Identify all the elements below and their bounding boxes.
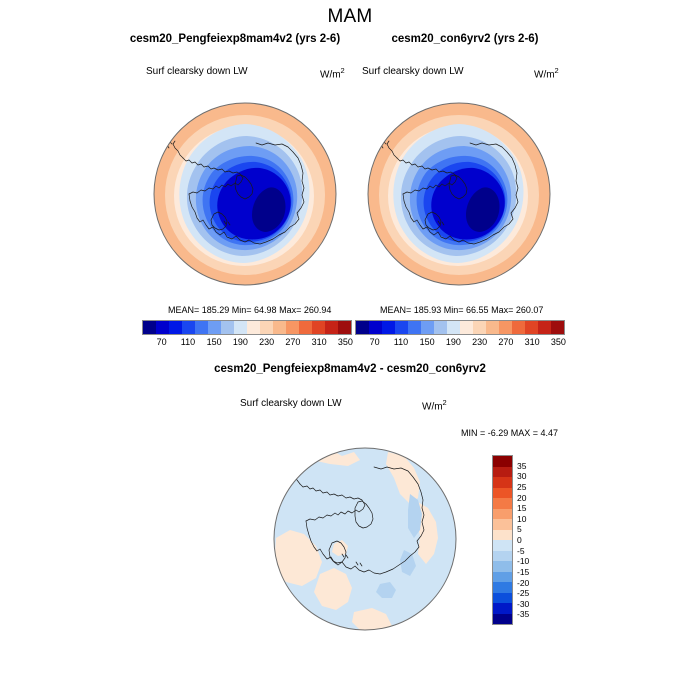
- colorbar-right-ticks: 70110150190230270310350: [355, 337, 565, 351]
- contour-fill-right: [368, 103, 550, 285]
- unit-label-difference: W/m2: [422, 398, 447, 412]
- colorbar-tick-310: 310: [312, 337, 327, 347]
- colorbar-cell-1: [369, 321, 382, 334]
- colorbar-cell-15: [338, 321, 351, 334]
- polar-map-difference-svg: [268, 442, 462, 636]
- colorbar-cell-7: [234, 321, 247, 334]
- colorbar-cell-11: [286, 321, 299, 334]
- colorbar-cell-3: [182, 321, 195, 334]
- contour-fill-difference: [274, 448, 456, 634]
- field-label-difference: Surf clearsky down LW: [240, 398, 342, 409]
- colorbar-diff-cell-0: [493, 456, 512, 467]
- colorbar-cell-3: [395, 321, 408, 334]
- colorbar-diff-tick-neg20: -20: [517, 578, 529, 588]
- colorbar-tick-350: 350: [551, 337, 566, 347]
- unit-label-right: W/m2: [534, 66, 559, 80]
- page-title: MAM: [0, 6, 700, 28]
- unit-exponent: 2: [341, 66, 345, 75]
- panel-title-right: cesm20_con6yrv2 (yrs 2-6): [330, 33, 600, 45]
- colorbar-cell-1: [156, 321, 169, 334]
- colorbar-diff-tick-neg15: -15: [517, 567, 529, 577]
- colorbar-cell-14: [538, 321, 551, 334]
- colorbar-cell-4: [408, 321, 421, 334]
- colorbar-left-ticks: 70110150190230270310350: [142, 337, 352, 351]
- stats-difference: MIN = -6.29 MAX = 4.47: [461, 428, 558, 438]
- colorbar-diff-tick-10: 10: [517, 514, 526, 524]
- colorbar-left: 70110150190230270310350: [142, 320, 352, 335]
- colorbar-cell-2: [382, 321, 395, 334]
- unit-label-left: W/m2: [320, 66, 345, 80]
- colorbar-cell-8: [460, 321, 473, 334]
- colorbar-right-swatches: [355, 320, 565, 335]
- polar-map-right: [366, 96, 552, 292]
- colorbar-tick-230: 230: [259, 337, 274, 347]
- colorbar-cell-9: [473, 321, 486, 334]
- colorbar-diff-cell-13: [493, 593, 512, 604]
- colorbar-cell-5: [208, 321, 221, 334]
- unit-text: W/m: [534, 69, 555, 80]
- colorbar-cell-10: [273, 321, 286, 334]
- colorbar-diff-tick-neg30: -30: [517, 599, 529, 609]
- colorbar-cell-5: [421, 321, 434, 334]
- colorbar-tick-150: 150: [207, 337, 222, 347]
- colorbar-cell-13: [312, 321, 325, 334]
- colorbar-cell-15: [551, 321, 564, 334]
- colorbar-right: 70110150190230270310350: [355, 320, 565, 335]
- colorbar-cell-12: [512, 321, 525, 334]
- colorbar-diff-tick-35: 35: [517, 461, 526, 471]
- colorbar-tick-230: 230: [472, 337, 487, 347]
- colorbar-diff-cell-4: [493, 498, 512, 509]
- unit-text: W/m: [422, 401, 443, 412]
- colorbar-cell-6: [434, 321, 447, 334]
- colorbar-diff-cell-3: [493, 488, 512, 499]
- colorbar-diff-tick-neg10: -10: [517, 556, 529, 566]
- colorbar-diff-tick-neg5: -5: [517, 546, 525, 556]
- colorbar-cell-0: [356, 321, 369, 334]
- colorbar-diff-tick-neg35: -35: [517, 609, 529, 619]
- panel-title-difference: cesm20_Pengfeiexp8mam4v2 - cesm20_con6yr…: [130, 363, 570, 375]
- colorbar-diff-cell-6: [493, 519, 512, 530]
- colorbar-diff-cell-7: [493, 530, 512, 541]
- stats-right: MEAN= 185.93 Min= 66.55 Max= 260.07: [380, 305, 543, 315]
- colorbar-diff-tick-15: 15: [517, 503, 526, 513]
- colorbar-cell-4: [195, 321, 208, 334]
- colorbar-tick-270: 270: [285, 337, 300, 347]
- colorbar-cell-11: [499, 321, 512, 334]
- unit-exponent: 2: [443, 398, 447, 407]
- colorbar-cell-2: [169, 321, 182, 334]
- colorbar-cell-7: [447, 321, 460, 334]
- colorbar-difference-swatches: [492, 455, 513, 625]
- colorbar-diff-tick-0: 0: [517, 535, 522, 545]
- colorbar-diff-cell-11: [493, 572, 512, 583]
- colorbar-tick-110: 110: [181, 337, 195, 347]
- colorbar-tick-150: 150: [420, 337, 435, 347]
- colorbar-cell-10: [486, 321, 499, 334]
- colorbar-cell-0: [143, 321, 156, 334]
- colorbar-left-swatches: [142, 320, 352, 335]
- colorbar-cell-8: [247, 321, 260, 334]
- colorbar-diff-cell-1: [493, 467, 512, 478]
- polar-map-difference: [268, 442, 462, 636]
- colorbar-tick-70: 70: [157, 337, 167, 347]
- colorbar-diff-tick-20: 20: [517, 493, 526, 503]
- colorbar-difference-ticks: 35302520151050-5-10-15-20-25-30-35: [517, 455, 547, 625]
- colorbar-diff-tick-25: 25: [517, 482, 526, 492]
- colorbar-diff-cell-12: [493, 582, 512, 593]
- colorbar-diff-tick-neg25: -25: [517, 588, 529, 598]
- colorbar-tick-190: 190: [233, 337, 248, 347]
- colorbar-diff-cell-14: [493, 603, 512, 614]
- colorbar-diff-tick-5: 5: [517, 524, 522, 534]
- unit-text: W/m: [320, 69, 341, 80]
- field-label-right: Surf clearsky down LW: [362, 66, 464, 77]
- contour-fill-left: [154, 103, 336, 285]
- colorbar-cell-13: [525, 321, 538, 334]
- colorbar-diff-cell-9: [493, 551, 512, 562]
- colorbar-cell-9: [260, 321, 273, 334]
- colorbar-tick-190: 190: [446, 337, 461, 347]
- colorbar-tick-110: 110: [394, 337, 408, 347]
- colorbar-diff-cell-5: [493, 509, 512, 520]
- colorbar-diff-cell-10: [493, 561, 512, 572]
- colorbar-tick-350: 350: [338, 337, 353, 347]
- colorbar-diff-cell-2: [493, 477, 512, 488]
- colorbar-cell-14: [325, 321, 338, 334]
- polar-map-right-svg: [366, 96, 552, 292]
- colorbar-cell-6: [221, 321, 234, 334]
- polar-map-left-svg: [152, 96, 338, 292]
- field-label-left: Surf clearsky down LW: [146, 66, 248, 77]
- colorbar-tick-70: 70: [370, 337, 380, 347]
- polar-map-left: [152, 96, 338, 292]
- colorbar-tick-310: 310: [525, 337, 540, 347]
- colorbar-diff-cell-8: [493, 540, 512, 551]
- unit-exponent: 2: [555, 66, 559, 75]
- stats-left: MEAN= 185.29 Min= 64.98 Max= 260.94: [168, 305, 331, 315]
- colorbar-tick-270: 270: [498, 337, 513, 347]
- colorbar-cell-12: [299, 321, 312, 334]
- colorbar-diff-cell-15: [493, 614, 512, 625]
- colorbar-diff-tick-30: 30: [517, 471, 526, 481]
